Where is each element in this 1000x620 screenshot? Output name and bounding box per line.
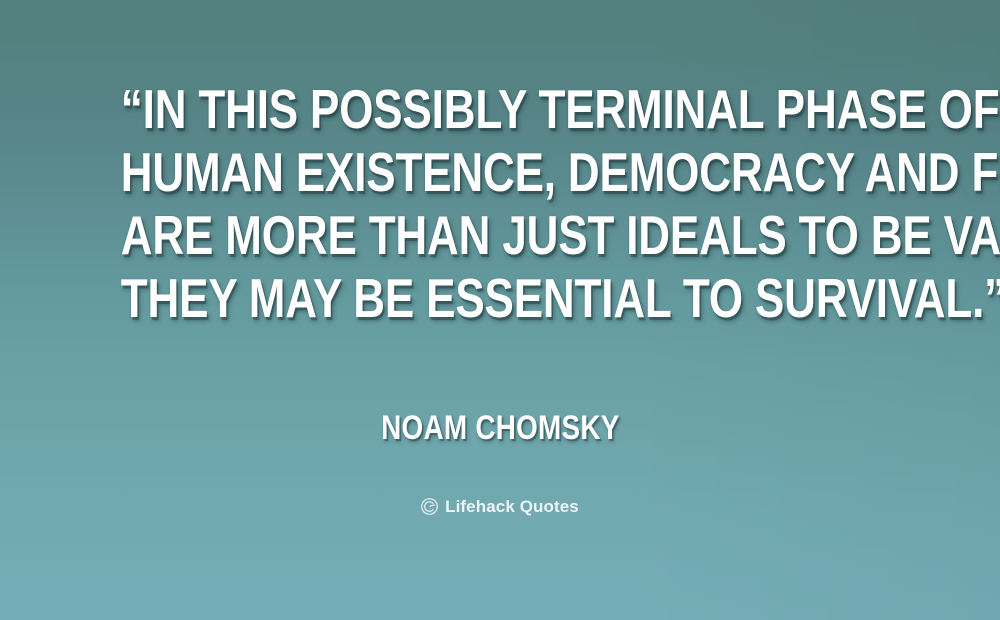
quote-line-2: HUMAN EXISTENCE, DEMOCRACY AND FREEDOM [121,141,879,204]
quote-line-1: “IN THIS POSSIBLY TERMINAL PHASE OF [121,78,879,141]
lifehack-circle-logo-icon [421,498,438,515]
author-name: NOAM CHOMSKY [381,409,619,447]
quote-block: “IN THIS POSSIBLY TERMINAL PHASE OF HUMA… [0,78,1000,330]
quote-line-3: ARE MORE THAN JUST IDEALS TO BE VALUED - [121,204,879,267]
quote-line-4: THEY MAY BE ESSENTIAL TO SURVIVAL.” [121,267,879,330]
quote-card: “IN THIS POSSIBLY TERMINAL PHASE OF HUMA… [0,0,1000,620]
brand-label: Lifehack Quotes [445,497,579,516]
brand-footer: Lifehack Quotes [0,497,1000,516]
quote-author: NOAM CHOMSKY [0,409,1000,447]
